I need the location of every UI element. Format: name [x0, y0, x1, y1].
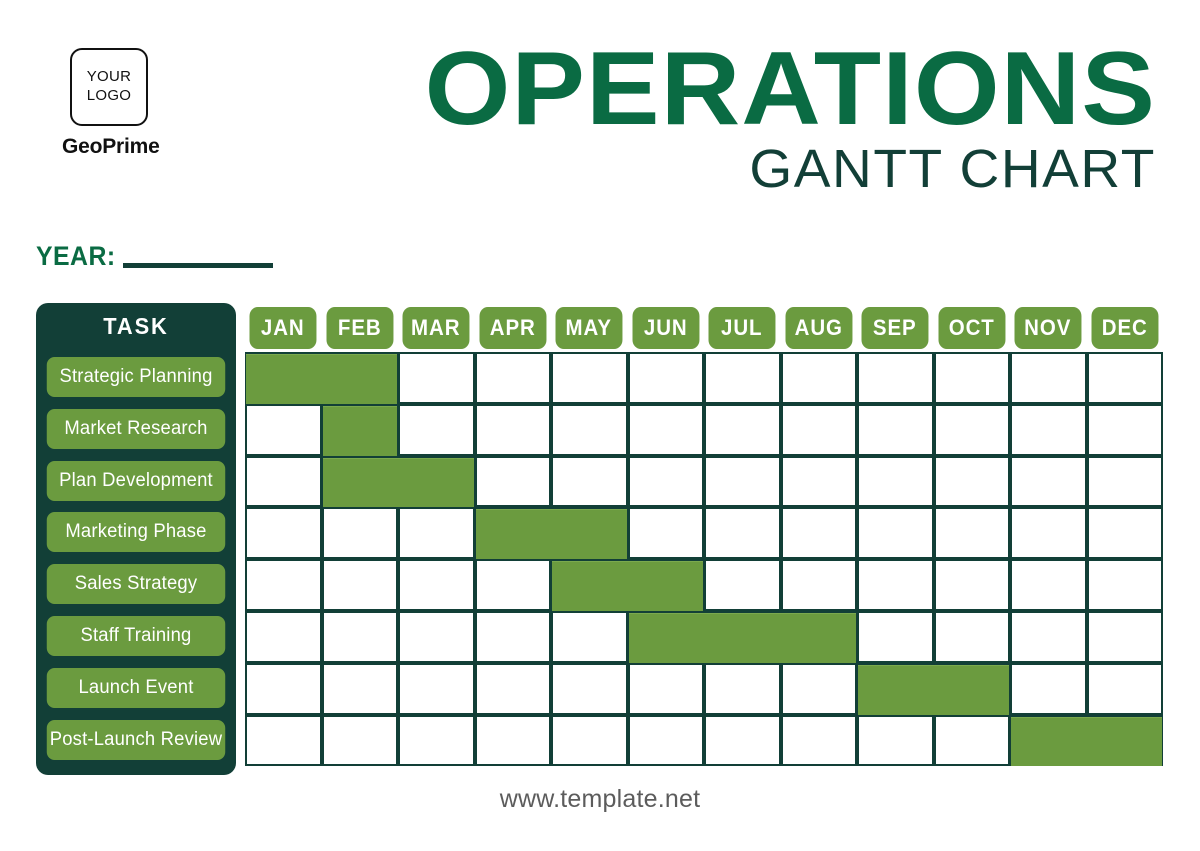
- grid-cell[interactable]: [245, 611, 322, 663]
- grid-cell[interactable]: [628, 404, 705, 456]
- task-label-7[interactable]: Launch Event: [47, 668, 225, 708]
- gantt-chart: TASK Strategic PlanningMarket ResearchPl…: [36, 303, 1164, 775]
- grid-cell[interactable]: [551, 404, 628, 456]
- grid-cell[interactable]: [857, 715, 934, 767]
- grid-cell[interactable]: [934, 715, 1011, 767]
- grid-cell[interactable]: [934, 352, 1011, 404]
- grid-cell[interactable]: [628, 663, 705, 715]
- grid-cell[interactable]: [551, 456, 628, 508]
- grid-cell[interactable]: [781, 456, 858, 508]
- month-header-jul[interactable]: JUL: [709, 307, 775, 349]
- grid-cell[interactable]: [781, 559, 858, 611]
- gantt-bar-marketing-phase[interactable]: [476, 509, 627, 559]
- logo-line-1: YOUR: [87, 68, 132, 87]
- grid-cell[interactable]: [398, 715, 475, 767]
- task-label-2[interactable]: Market Research: [47, 409, 225, 449]
- page-subtitle: GANTT CHART: [452, 141, 1156, 198]
- grid-cell[interactable]: [475, 559, 552, 611]
- task-label-4[interactable]: Marketing Phase: [47, 512, 225, 552]
- grid-cell[interactable]: [1087, 507, 1164, 559]
- grid-cell[interactable]: [475, 456, 552, 508]
- grid-cell[interactable]: [781, 404, 858, 456]
- grid-cell[interactable]: [628, 507, 705, 559]
- grid-cell[interactable]: [322, 507, 399, 559]
- grid-cell[interactable]: [704, 507, 781, 559]
- grid-cell[interactable]: [245, 507, 322, 559]
- grid-cell[interactable]: [398, 507, 475, 559]
- grid-cell[interactable]: [704, 456, 781, 508]
- gantt-bar-strategic-planning[interactable]: [246, 354, 397, 404]
- grid-cell[interactable]: [551, 611, 628, 663]
- grid-cell[interactable]: [398, 559, 475, 611]
- grid-cell[interactable]: [475, 404, 552, 456]
- grid-cell[interactable]: [934, 404, 1011, 456]
- grid-cell[interactable]: [475, 715, 552, 767]
- year-field[interactable]: YEAR:: [36, 238, 273, 272]
- grid-cell[interactable]: [628, 456, 705, 508]
- grid-cell[interactable]: [245, 404, 322, 456]
- grid-cell[interactable]: [322, 611, 399, 663]
- grid-cell[interactable]: [551, 352, 628, 404]
- task-label-6[interactable]: Staff Training: [47, 616, 225, 656]
- task-label-8[interactable]: Post-Launch Review: [47, 720, 225, 760]
- gantt-bar-market-research[interactable]: [323, 406, 398, 456]
- logo-placeholder-icon: YOUR LOGO: [70, 48, 148, 126]
- page-header: YOUR LOGO GeoPrime OPERATIONS GANTT CHAR…: [0, 0, 1200, 230]
- month-header-apr[interactable]: APR: [479, 307, 545, 349]
- grid-cell[interactable]: [934, 611, 1011, 663]
- grid-cell[interactable]: [857, 404, 934, 456]
- grid-cell[interactable]: [704, 715, 781, 767]
- gantt-bar-staff-training[interactable]: [629, 613, 857, 663]
- grid-cell[interactable]: [1087, 611, 1164, 663]
- grid-cell[interactable]: [781, 507, 858, 559]
- grid-cell[interactable]: [857, 456, 934, 508]
- grid-cell[interactable]: [1010, 456, 1087, 508]
- grid-cell[interactable]: [781, 352, 858, 404]
- grid-cell[interactable]: [704, 663, 781, 715]
- task-label-5[interactable]: Sales Strategy: [47, 564, 225, 604]
- grid-cell[interactable]: [857, 611, 934, 663]
- gantt-bar-sales-strategy[interactable]: [552, 561, 703, 611]
- month-header-nov[interactable]: NOV: [1015, 307, 1081, 349]
- grid-cell[interactable]: [1010, 663, 1087, 715]
- grid-cell[interactable]: [398, 663, 475, 715]
- grid-cell[interactable]: [934, 559, 1011, 611]
- grid-cell[interactable]: [1010, 611, 1087, 663]
- grid-cell[interactable]: [322, 715, 399, 767]
- grid-cell[interactable]: [781, 663, 858, 715]
- grid-cell[interactable]: [704, 352, 781, 404]
- grid-cell[interactable]: [1010, 404, 1087, 456]
- grid-cell[interactable]: [551, 663, 628, 715]
- page-title: OPERATIONS: [425, 40, 1156, 139]
- grid-cell[interactable]: [628, 352, 705, 404]
- grid-cell[interactable]: [398, 352, 475, 404]
- grid-cell[interactable]: [322, 559, 399, 611]
- grid-cell[interactable]: [1087, 404, 1164, 456]
- gantt-bar-post-launch-review[interactable]: [1011, 717, 1162, 767]
- month-header-mar[interactable]: MAR: [403, 307, 469, 349]
- grid-cell[interactable]: [322, 663, 399, 715]
- grid-cell[interactable]: [245, 715, 322, 767]
- grid-cell[interactable]: [934, 507, 1011, 559]
- grid-cell[interactable]: [1087, 456, 1164, 508]
- grid-cell[interactable]: [934, 456, 1011, 508]
- grid-cell[interactable]: [245, 663, 322, 715]
- grid-cell[interactable]: [475, 352, 552, 404]
- grid-cell[interactable]: [704, 404, 781, 456]
- month-header-dec[interactable]: DEC: [1091, 307, 1157, 349]
- grid-cell[interactable]: [1087, 663, 1164, 715]
- month-header-oct[interactable]: OCT: [938, 307, 1004, 349]
- grid-cell[interactable]: [475, 611, 552, 663]
- logo-line-2: LOGO: [87, 87, 132, 106]
- grid-cell[interactable]: [1010, 352, 1087, 404]
- grid-cell[interactable]: [398, 404, 475, 456]
- task-column-header: TASK: [41, 303, 231, 349]
- grid-cell[interactable]: [857, 507, 934, 559]
- month-header-jan[interactable]: JAN: [250, 307, 316, 349]
- grid-cell[interactable]: [398, 611, 475, 663]
- grid-cell[interactable]: [551, 715, 628, 767]
- task-column-panel: TASK Strategic PlanningMarket ResearchPl…: [36, 303, 236, 775]
- month-header-feb[interactable]: FEB: [326, 307, 392, 349]
- task-label-1[interactable]: Strategic Planning: [47, 357, 225, 397]
- grid-cell[interactable]: [245, 456, 322, 508]
- grid-cell[interactable]: [628, 715, 705, 767]
- grid-cell[interactable]: [1087, 352, 1164, 404]
- brand-logo-block: YOUR LOGO GeoPrime: [62, 48, 242, 159]
- month-header-aug[interactable]: AUG: [785, 307, 851, 349]
- title-block: OPERATIONS GANTT CHART: [466, 40, 1156, 197]
- month-header-may[interactable]: MAY: [556, 307, 622, 349]
- month-header-jun[interactable]: JUN: [632, 307, 698, 349]
- grid-cell[interactable]: [857, 352, 934, 404]
- grid-cell[interactable]: [857, 559, 934, 611]
- grid-cell[interactable]: [475, 663, 552, 715]
- year-label: YEAR:: [36, 241, 116, 272]
- grid-cell[interactable]: [1010, 507, 1087, 559]
- gantt-bar-launch-event[interactable]: [858, 665, 1009, 715]
- year-input-rule[interactable]: [123, 263, 273, 268]
- gantt-bar-plan-development[interactable]: [323, 458, 474, 508]
- grid-cell[interactable]: [704, 559, 781, 611]
- grid-cell[interactable]: [1087, 559, 1164, 611]
- month-header-sep[interactable]: SEP: [862, 307, 928, 349]
- grid-cell[interactable]: [781, 715, 858, 767]
- grid-cell[interactable]: [1010, 559, 1087, 611]
- brand-name: GeoPrime: [62, 135, 242, 159]
- task-label-3[interactable]: Plan Development: [47, 461, 225, 501]
- footer-url: www.template.net: [0, 785, 1200, 814]
- grid-cell[interactable]: [245, 559, 322, 611]
